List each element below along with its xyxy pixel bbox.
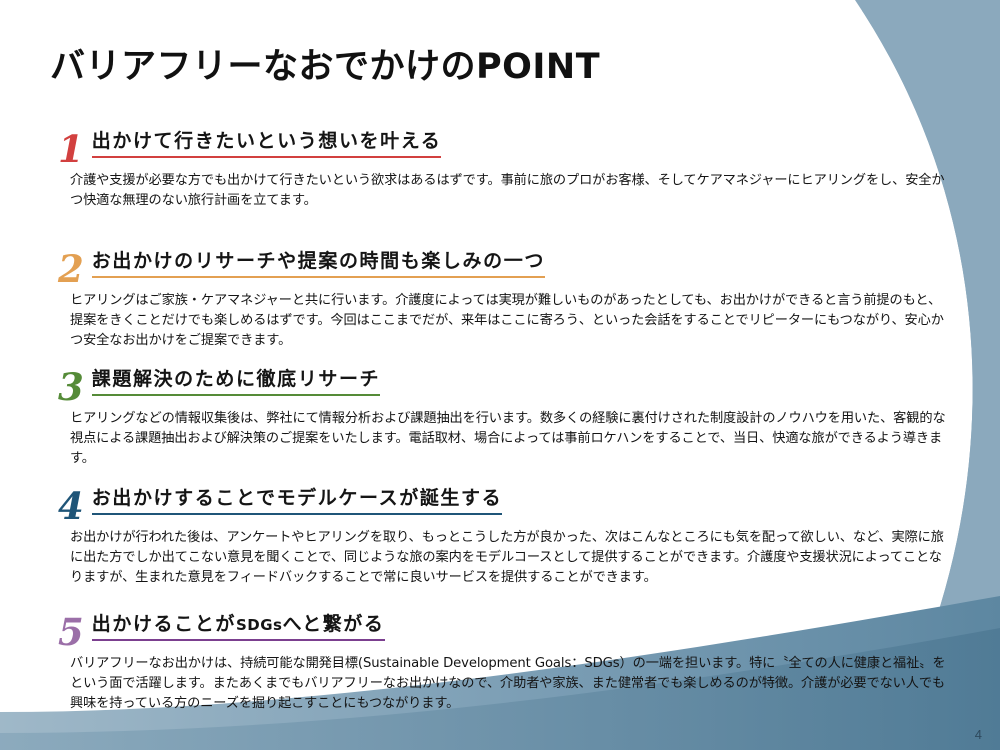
section-5-underline (92, 639, 385, 641)
section-2: 2 お出かけのリサーチや提案の時間も楽しみの一つ ヒアリングはご家族・ケアマネジ… (58, 248, 958, 351)
section-1-header: 1 出かけて行きたいという想いを叶える (58, 128, 958, 162)
page-title: バリアフリーなおでかけのPOINT (50, 38, 600, 89)
section-3-number: 3 (58, 372, 86, 402)
section-4-paragraph: お出かけが行われた後は、アンケートやヒアリングを取り、もっとこうした方が良かった… (70, 528, 950, 588)
section-5-paragraph: バリアフリーなお出かけは、持続可能な開発目標(Sustainable Devel… (70, 654, 950, 714)
section-4-header: 4 お出かけすることでモデルケースが誕生する (58, 485, 958, 519)
section-5-number: 5 (58, 617, 86, 647)
section-5-title-wrap: 出かけることがSDGsへと繋がる (92, 609, 385, 645)
section-5-header: 5 出かけることがSDGsへと繋がる (58, 611, 958, 645)
section-2-title: お出かけのリサーチや提案の時間も楽しみの一つ (92, 246, 545, 273)
section-4: 4 お出かけすることでモデルケースが誕生する お出かけが行われた後は、アンケート… (58, 485, 958, 588)
section-1-number: 1 (58, 134, 86, 164)
section-2-header: 2 お出かけのリサーチや提案の時間も楽しみの一つ (58, 248, 958, 282)
page-number: 4 (975, 727, 982, 742)
section-5: 5 出かけることがSDGsへと繋がる バリアフリーなお出かけは、持続可能な開発目… (58, 611, 958, 714)
section-4-number: 4 (58, 491, 86, 521)
section-5-title-sdgs: SDGs (236, 616, 283, 634)
section-1-title: 出かけて行きたいという想いを叶える (92, 126, 442, 153)
section-2-number: 2 (58, 254, 86, 284)
section-5-title-tail: へと繋がる (282, 613, 384, 635)
section-1-underline (92, 156, 442, 158)
section-3-title: 課題解決のために徹底リサーチ (92, 364, 380, 391)
section-3-header: 3 課題解決のために徹底リサーチ (58, 366, 958, 400)
section-4-body: お出かけが行われた後は、アンケートやヒアリングを取り、もっとこうした方が良かった… (70, 528, 950, 588)
section-3: 3 課題解決のために徹底リサーチ ヒアリングなどの情報収集後は、弊社にて情報分析… (58, 366, 958, 469)
section-3-body: ヒアリングなどの情報収集後は、弊社にて情報分析および課題抽出を行います。数多くの… (70, 409, 950, 469)
slide-canvas: バリアフリーなおでかけのPOINT 1 出かけて行きたいという想いを叶える 介護… (0, 0, 1000, 750)
section-1-paragraph: 介護や支援が必要な方でも出かけて行きたいという欲求はあるはずです。事前に旅のプロ… (70, 171, 950, 211)
section-1: 1 出かけて行きたいという想いを叶える 介護や支援が必要な方でも出かけて行きたい… (58, 128, 958, 211)
section-3-underline (92, 394, 380, 396)
section-4-title: お出かけすることでモデルケースが誕生する (92, 483, 502, 510)
section-4-title-wrap: お出かけすることでモデルケースが誕生する (92, 483, 502, 519)
section-5-body: バリアフリーなお出かけは、持続可能な開発目標(Sustainable Devel… (70, 654, 950, 714)
section-2-paragraph: ヒアリングはご家族・ケアマネジャーと共に行います。介護度によっては実現が難しいも… (70, 291, 950, 351)
section-5-title: 出かけることがSDGsへと繋がる (92, 609, 385, 636)
section-3-title-wrap: 課題解決のために徹底リサーチ (92, 364, 380, 400)
section-2-title-wrap: お出かけのリサーチや提案の時間も楽しみの一つ (92, 246, 545, 282)
section-2-body: ヒアリングはご家族・ケアマネジャーと共に行います。介護度によっては実現が難しいも… (70, 291, 950, 351)
section-1-body: 介護や支援が必要な方でも出かけて行きたいという欲求はあるはずです。事前に旅のプロ… (70, 171, 950, 211)
section-5-title-main: 出かけることが (92, 613, 236, 635)
section-3-paragraph: ヒアリングなどの情報収集後は、弊社にて情報分析および課題抽出を行います。数多くの… (70, 409, 950, 469)
section-1-title-wrap: 出かけて行きたいという想いを叶える (92, 126, 442, 162)
section-2-underline (92, 276, 545, 278)
section-4-underline (92, 513, 502, 515)
